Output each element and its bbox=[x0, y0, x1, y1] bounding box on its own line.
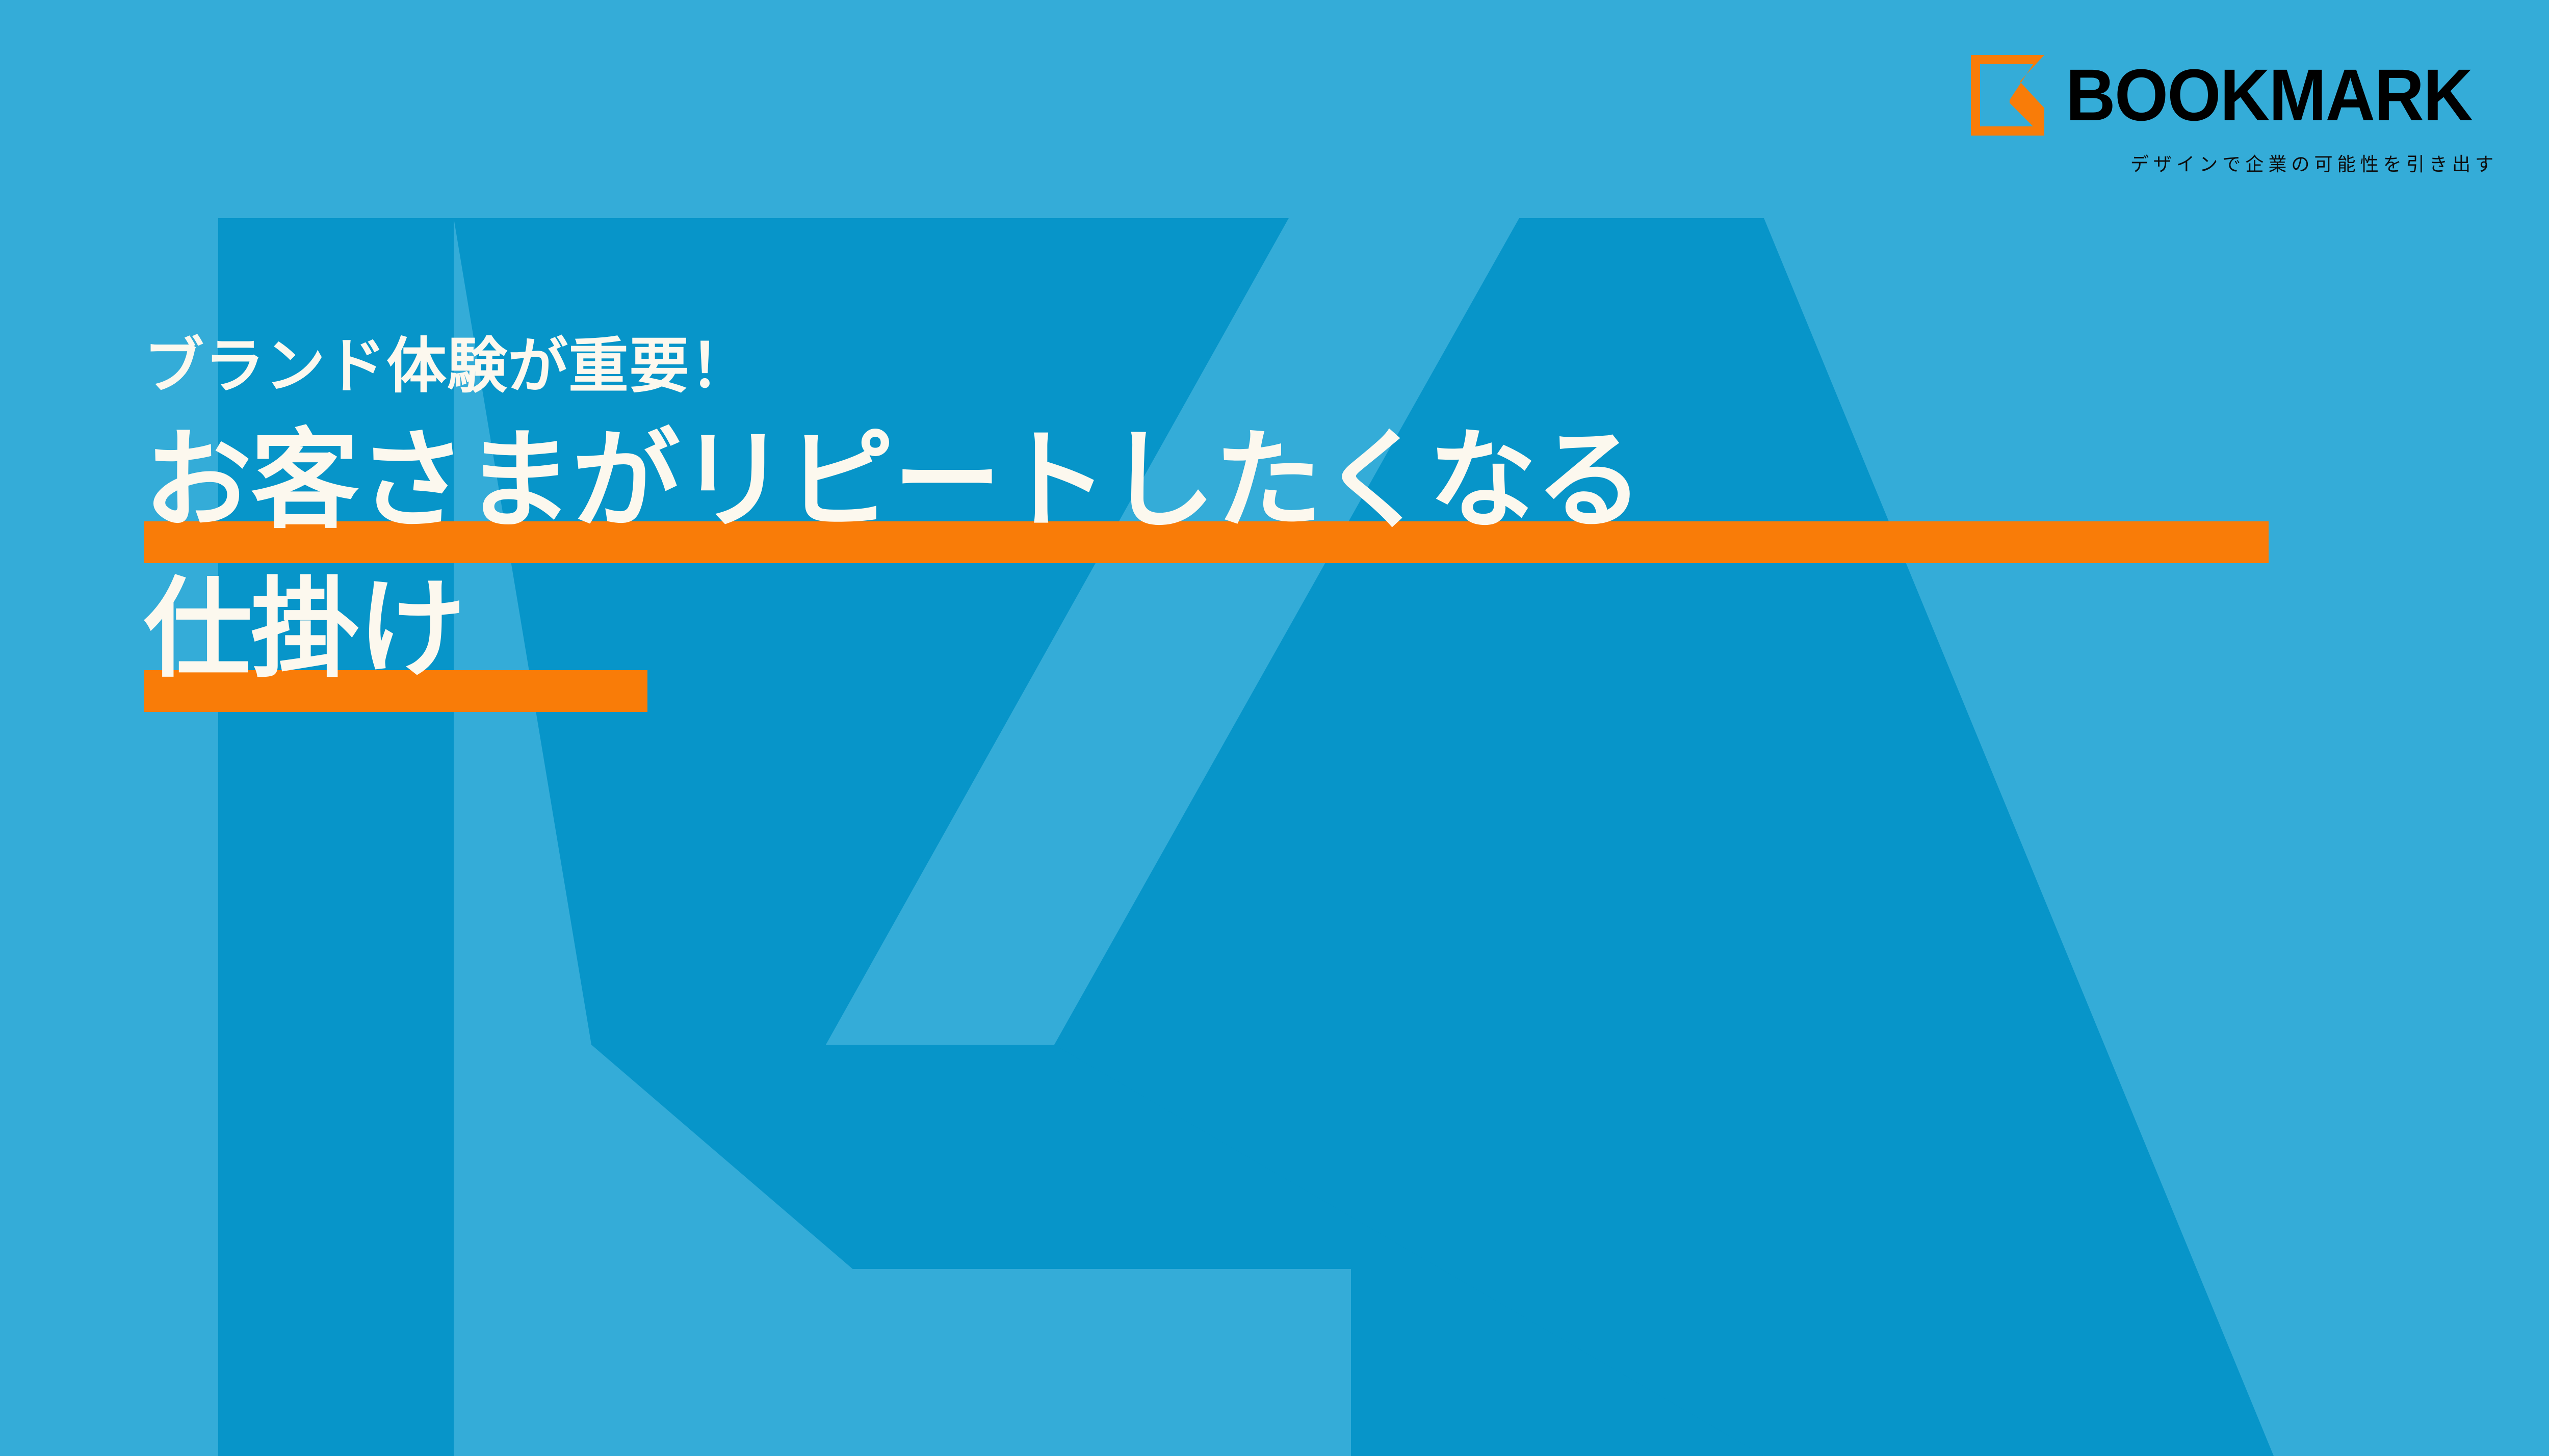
title-line-1: お客さまがリピートしたくなる bbox=[144, 427, 1643, 563]
logo-wordmark: BOOKMARK bbox=[2066, 62, 2472, 128]
headline-block: ブランド体験が重要！ お客さまがリピートしたくなる 仕掛け bbox=[144, 331, 1643, 712]
slide-canvas: BOOKMARK デザインで企業の可能性を引き出す ブランド体験が重要！ お客さ… bbox=[0, 0, 2549, 1456]
title-line-1-text: お客さまがリピートしたくなる bbox=[144, 420, 1643, 541]
title-line-2-text: 仕掛け bbox=[144, 569, 465, 690]
logo-row: BOOKMARK bbox=[1969, 55, 2498, 136]
title-line-2: 仕掛け bbox=[144, 575, 1643, 712]
bookmark-logo-mark-icon bbox=[1969, 55, 2044, 136]
background-k-mark-icon bbox=[0, 0, 2549, 1456]
brand-logo-lockup[interactable]: BOOKMARK デザインで企業の可能性を引き出す bbox=[1969, 55, 2498, 176]
eyebrow-text: ブランド体験が重要！ bbox=[144, 331, 1643, 402]
logo-tagline: デザインで企業の可能性を引き出す bbox=[2130, 149, 2498, 176]
